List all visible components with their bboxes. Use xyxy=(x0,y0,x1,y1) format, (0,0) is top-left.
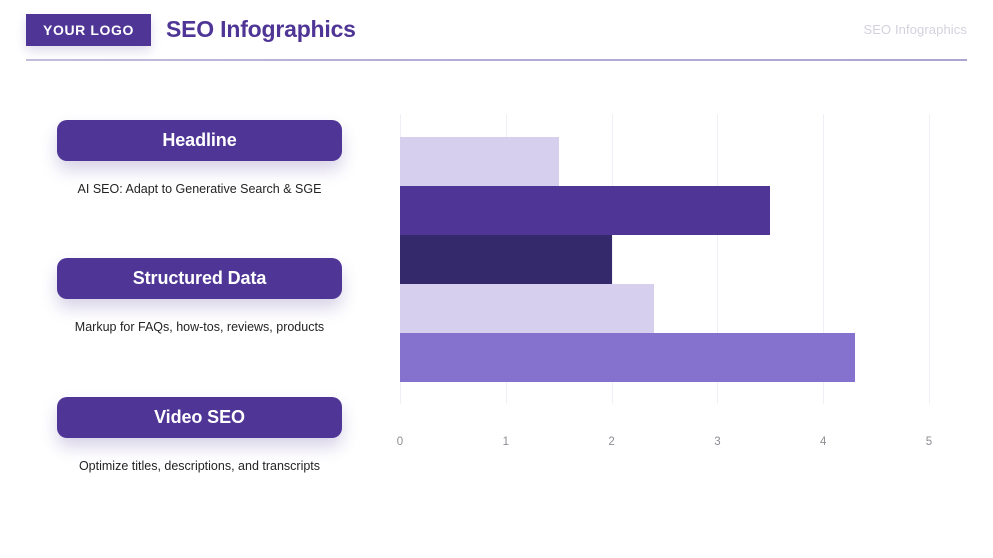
chart-bar xyxy=(400,186,770,235)
chart-bar xyxy=(400,284,654,333)
page-title: SEO Infographics xyxy=(166,16,356,43)
chart-bars xyxy=(400,114,929,404)
chart-bar xyxy=(400,333,855,382)
chart-x-tick-label: 2 xyxy=(608,436,614,448)
topic-pill[interactable]: Headline xyxy=(57,120,342,161)
chart-x-tick-label: 0 xyxy=(397,436,403,448)
topic-caption: AI SEO: Adapt to Generative Search & SGE xyxy=(57,178,342,200)
topic-caption: Optimize titles, descriptions, and trans… xyxy=(57,455,342,477)
topic-caption: Markup for FAQs, how-tos, reviews, produ… xyxy=(57,316,342,338)
chart-gridline xyxy=(929,114,930,404)
bar-chart: 012345 xyxy=(382,96,962,496)
chart-bar xyxy=(400,235,612,284)
chart-plot-area xyxy=(400,114,929,404)
topic-item-headline[interactable]: Headline AI SEO: Adapt to Generative Sea… xyxy=(57,120,342,200)
chart-x-axis: 012345 xyxy=(400,436,929,456)
chart-x-tick-label: 4 xyxy=(820,436,826,448)
topic-pill-label: Structured Data xyxy=(133,268,267,289)
topics-panel: Headline AI SEO: Adapt to Generative Sea… xyxy=(0,96,370,536)
topic-pill-label: Headline xyxy=(162,130,236,151)
chart-x-tick-label: 5 xyxy=(926,436,932,448)
logo-badge[interactable]: YOUR LOGO xyxy=(26,14,151,46)
page-header: YOUR LOGO SEO Infographics SEO Infograph… xyxy=(0,0,993,62)
topic-pill[interactable]: Video SEO xyxy=(57,397,342,438)
chart-x-tick-label: 3 xyxy=(714,436,720,448)
chart-bar xyxy=(400,137,559,186)
topic-pill[interactable]: Structured Data xyxy=(57,258,342,299)
topic-item-structured-data[interactable]: Structured Data Markup for FAQs, how-tos… xyxy=(57,258,342,338)
header-watermark-label: SEO Infographics xyxy=(864,22,968,37)
logo-badge-label: YOUR LOGO xyxy=(43,22,134,38)
chart-x-tick-label: 1 xyxy=(503,436,509,448)
header-divider xyxy=(26,59,967,61)
topic-pill-label: Video SEO xyxy=(154,407,245,428)
topic-item-video-seo[interactable]: Video SEO Optimize titles, descriptions,… xyxy=(57,397,342,477)
